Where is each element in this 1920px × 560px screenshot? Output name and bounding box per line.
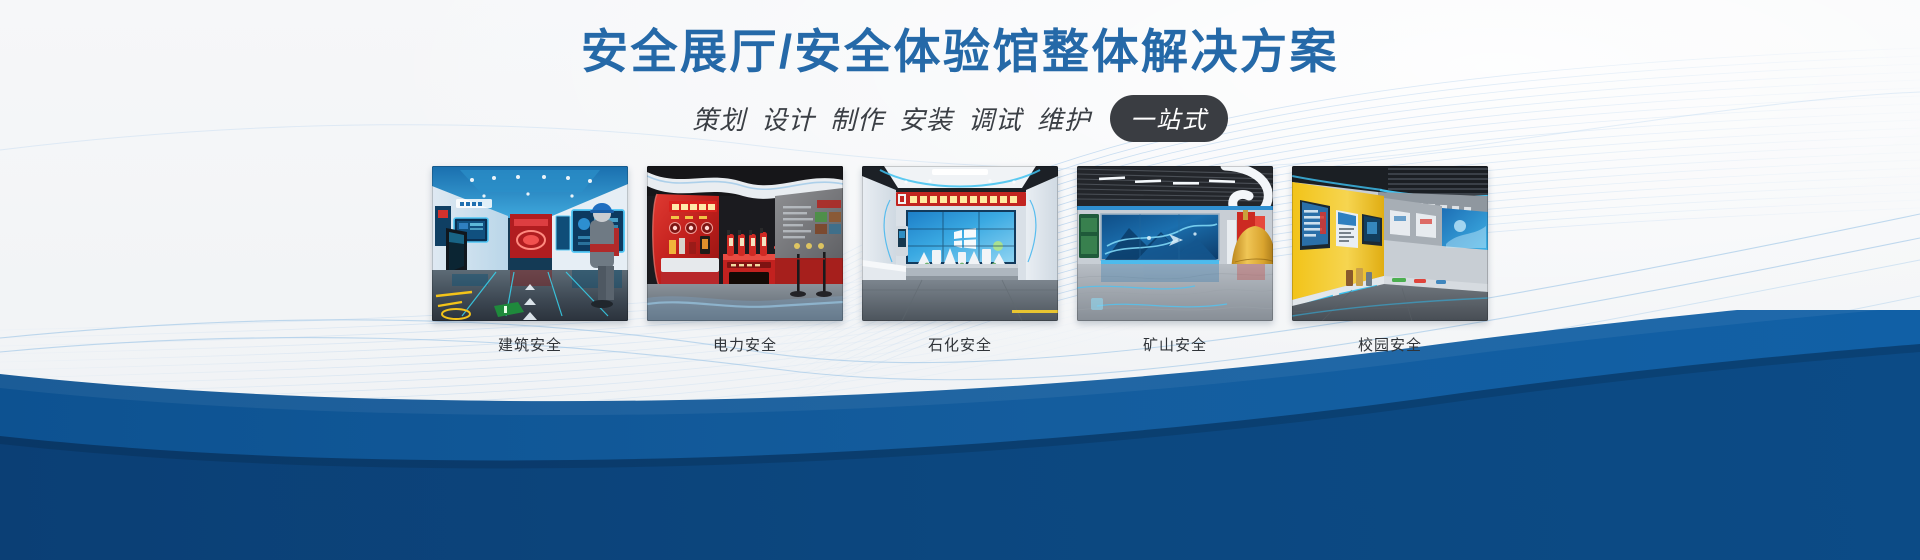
gallery-caption: 石化安全 bbox=[928, 334, 992, 355]
subtitle-steps: 策划 设计 制作 安装 调试 维护 一站式 bbox=[0, 95, 1920, 142]
gallery-item[interactable]: 矿山安全 bbox=[1077, 166, 1273, 355]
gallery-thumbnail-1[interactable] bbox=[432, 166, 628, 321]
gallery-item[interactable]: 石化安全 bbox=[862, 166, 1058, 355]
gallery-thumbnail-3[interactable] bbox=[862, 166, 1058, 321]
subtitle-step-6: 维护 bbox=[1037, 100, 1091, 137]
subtitle-step-2: 设计 bbox=[761, 100, 815, 137]
subtitle-step-3: 制作 bbox=[830, 100, 884, 137]
gallery-caption: 电力安全 bbox=[713, 334, 777, 355]
subtitle-step-5: 调试 bbox=[968, 100, 1022, 137]
gallery-item[interactable]: 校园安全 bbox=[1292, 166, 1488, 355]
page-title: 安全展厅/安全体验馆整体解决方案 bbox=[0, 22, 1920, 82]
gallery-caption: 建筑安全 bbox=[498, 334, 562, 355]
gallery-item[interactable]: 电力安全 bbox=[647, 166, 843, 355]
gallery-caption: 校园安全 bbox=[1358, 334, 1422, 355]
gallery-item[interactable]: 建筑安全 bbox=[432, 166, 628, 355]
headline-block: 安全展厅/安全体验馆整体解决方案 策划 设计 制作 安装 调试 维护 一站式 bbox=[0, 0, 1920, 142]
gallery-row: 建筑安全 bbox=[0, 166, 1920, 355]
subtitle-step-1: 策划 bbox=[692, 100, 746, 137]
subtitle-step-4: 安装 bbox=[899, 100, 953, 137]
status-badge: 一站式 bbox=[1110, 95, 1228, 142]
gallery-thumbnail-5[interactable] bbox=[1292, 166, 1488, 321]
gallery-thumbnail-4[interactable] bbox=[1077, 166, 1273, 321]
gallery-thumbnail-2[interactable] bbox=[647, 166, 843, 321]
gallery-caption: 矿山安全 bbox=[1143, 334, 1207, 355]
promo-banner: 安全展厅/安全体验馆整体解决方案 策划 设计 制作 安装 调试 维护 一站式 bbox=[0, 0, 1920, 560]
